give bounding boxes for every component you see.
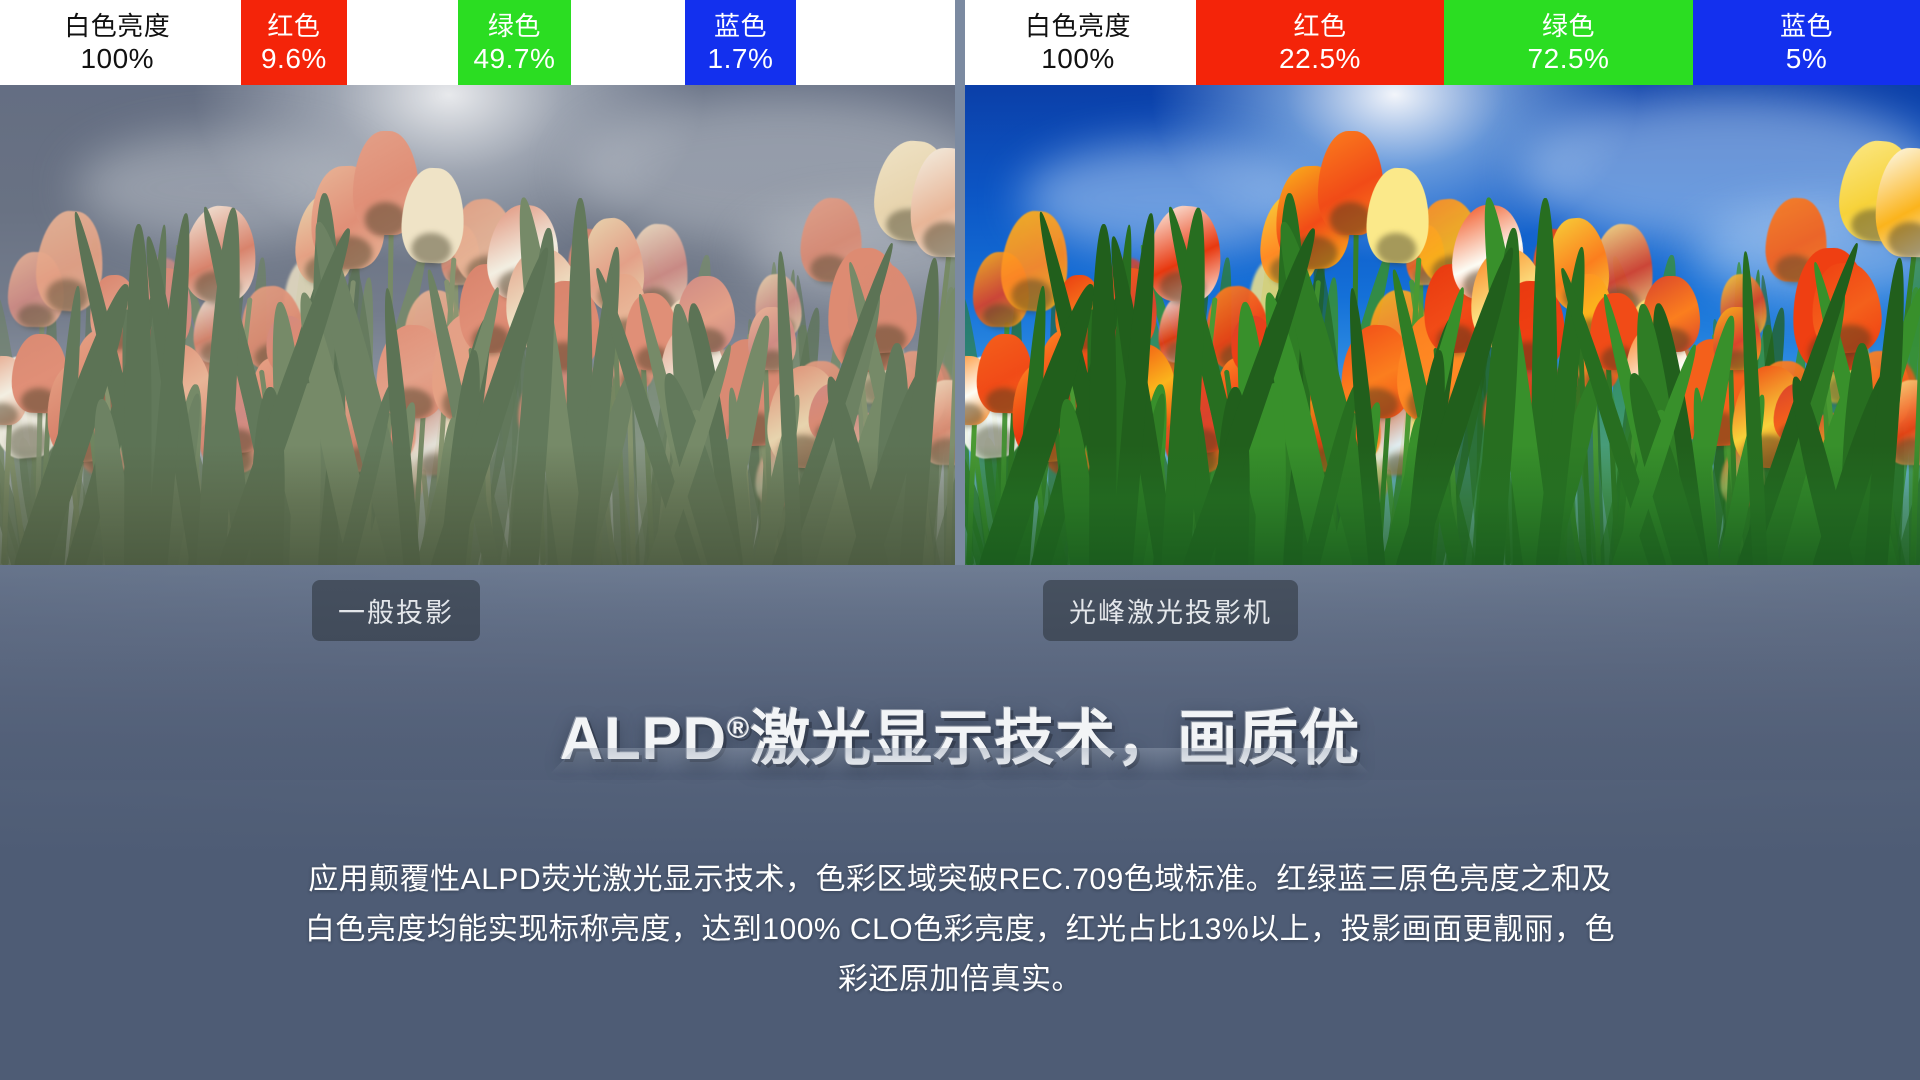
ground-vivid	[965, 445, 1920, 565]
right-metric-red-brightness: 红色 22.5%	[1196, 0, 1444, 85]
metric-value: 49.7%	[473, 45, 555, 73]
left-metric-blue-brightness: 蓝色 1.7%	[685, 0, 797, 85]
metric-label: 蓝色	[1780, 13, 1833, 39]
slide-root: 白色亮度 100% 红色 9.6% 绿色 49.7% 蓝色 1.7%	[0, 0, 1920, 1080]
right-metric-white-brightness: 白色亮度 100%	[960, 0, 1196, 85]
right-metric-green-brightness: 绿色 72.5%	[1444, 0, 1693, 85]
metric-value: 100%	[1041, 45, 1115, 73]
comparison-images	[0, 85, 1920, 565]
headline-underplate	[550, 748, 1370, 774]
body-paragraph: 应用颠覆性ALPD荧光激光显示技术，色彩区域突破REC.709色域标准。红绿蓝三…	[150, 855, 1770, 1005]
header-panel-divider	[955, 0, 965, 85]
metric-label: 红色	[267, 13, 320, 39]
body-line-1: 应用颠覆性ALPD荧光激光显示技术，色彩区域突破REC.709色域标准。红绿蓝三…	[150, 855, 1770, 905]
left-metric-green-brightness: 绿色 49.7%	[458, 0, 571, 85]
right-metric-blue-brightness: 蓝色 5%	[1693, 0, 1920, 85]
metric-value: 22.5%	[1279, 45, 1361, 73]
registered-trademark-icon: ®	[727, 712, 750, 745]
left-header-spacer-4	[796, 0, 960, 85]
left-panel-header: 白色亮度 100% 红色 9.6% 绿色 49.7% 蓝色 1.7%	[0, 0, 960, 85]
metric-value: 9.6%	[261, 45, 327, 73]
metric-label: 绿色	[488, 13, 541, 39]
left-metric-red-brightness: 红色 9.6%	[241, 0, 348, 85]
right-panel-caption: 光峰激光投影机	[1043, 580, 1298, 641]
metric-label: 红色	[1293, 13, 1346, 39]
headline-block: ALPD®激光显示技术，画质优	[0, 690, 1920, 777]
left-metric-white-brightness: 白色亮度 100%	[0, 0, 235, 85]
body-line-3: 彩还原加倍真实。	[150, 955, 1770, 1005]
metric-value: 100%	[80, 45, 154, 73]
metric-label: 绿色	[1542, 13, 1595, 39]
metric-value: 1.7%	[708, 45, 774, 73]
metric-value: 72.5%	[1528, 45, 1610, 73]
right-panel-header: 白色亮度 100% 红色 22.5% 绿色 72.5% 蓝色 5%	[960, 0, 1920, 85]
left-panel-caption: 一般投影	[312, 580, 480, 641]
body-line-2: 白色亮度均能实现标称亮度，达到100% CLO色彩亮度，红光占比13%以上，投影…	[150, 905, 1770, 955]
ground-dull	[0, 445, 955, 565]
metric-label: 蓝色	[714, 13, 767, 39]
left-tulip-photo	[0, 85, 955, 565]
brightness-header-bars: 白色亮度 100% 红色 9.6% 绿色 49.7% 蓝色 1.7%	[0, 0, 1920, 85]
left-header-spacer-2	[347, 0, 458, 85]
metric-value: 5%	[1786, 45, 1827, 73]
metric-label: 白色亮度	[1025, 13, 1131, 39]
left-header-spacer-3	[571, 0, 685, 85]
image-panel-divider	[955, 85, 965, 565]
metric-label: 白色亮度	[64, 13, 170, 39]
right-tulip-photo	[965, 85, 1920, 565]
